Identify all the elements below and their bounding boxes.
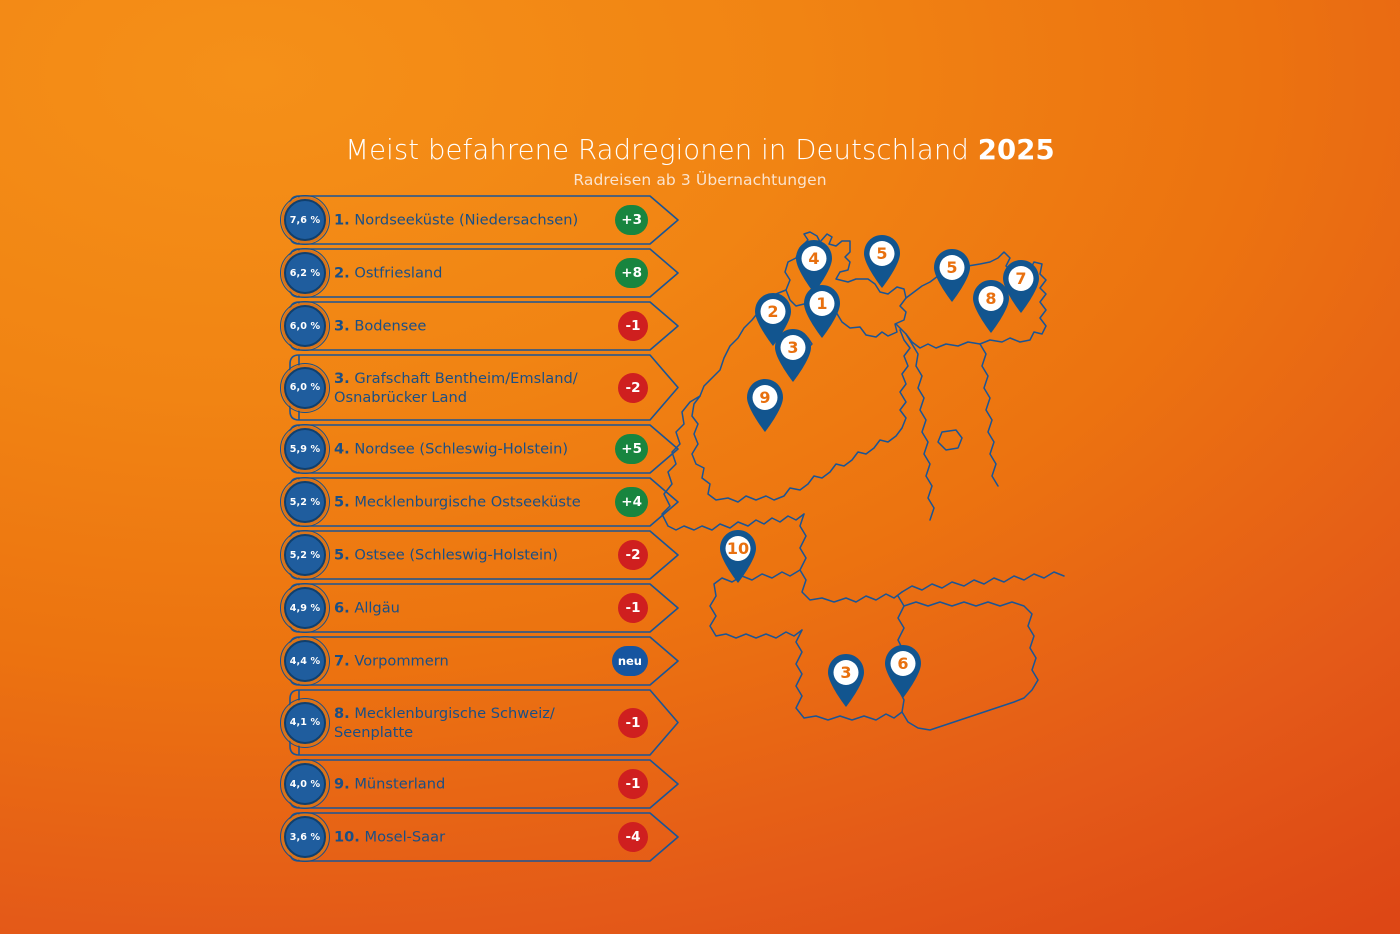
percent-badge: 6,0 % [284,367,326,409]
rank-change-badge: +3 [615,205,648,235]
rank-change-badge: -4 [618,822,648,852]
ranking-row[interactable]: 4,4 %7. Vorpommernneu [284,637,684,685]
map-pin-number: 8 [970,283,1012,314]
map-pin-number: 10 [717,533,759,564]
rank-change-badge: +8 [615,258,648,288]
map-pin[interactable]: 6 [882,643,924,699]
rank-change-badge: -1 [618,769,648,799]
region-label: 5. Ostsee (Schleswig-Holstein) [334,546,609,565]
region-label: 6. Allgäu [334,599,609,618]
map-pin[interactable]: 3 [772,327,814,383]
rank-change-badge: +5 [615,434,648,464]
ranking-row[interactable]: 5,2 %5. Ostsee (Schleswig-Holstein)-2 [284,531,684,579]
percent-badge: 3,6 % [284,816,326,858]
region-label: 5. Mecklenburgische Ostseeküste [334,493,609,512]
percent-badge: 6,0 % [284,305,326,347]
map-pin[interactable]: 5 [861,233,903,289]
region-name: Mecklenburgische Ostseeküste [354,494,580,511]
ranking-row[interactable]: 5,9 %4. Nordsee (Schleswig-Holstein)+5 [284,425,684,473]
region-label: 4. Nordsee (Schleswig-Holstein) [334,440,609,459]
region-rank: 5. [334,494,350,511]
percent-badge: 5,9 % [284,428,326,470]
ranking-row[interactable]: 5,2 %5. Mecklenburgische Ostseeküste+4 [284,478,684,526]
percent-badge: 4,1 % [284,702,326,744]
rank-change-badge: -1 [618,708,648,738]
rank-change-badge: -2 [618,540,648,570]
region-label: 2. Ostfriesland [334,264,609,283]
ranking-row[interactable]: 6,2 %2. Ostfriesland+8 [284,249,684,297]
region-name: Münsterland [354,776,445,793]
rank-change-badge: neu [612,646,648,676]
map-pin-number: 9 [744,382,786,413]
region-name: Ostsee (Schleswig-Holstein) [354,547,558,564]
region-rank: 6. [334,600,350,617]
region-rank: 9. [334,776,350,793]
map-pin-number: 4 [793,243,835,274]
region-name: Vorpommern [354,653,448,670]
region-name: Bodensee [354,318,426,335]
page-title: Meist befahrene Radregionen in Deutschla… [0,134,1400,166]
region-label: 3. Bodensee [334,317,609,336]
map-region-hesse [800,514,902,602]
percent-badge: 7,6 % [284,199,326,241]
ranking-row[interactable]: 6,0 %3. Grafschaft Bentheim/Emsland/Osna… [284,355,684,420]
region-rank: 1. [334,212,350,229]
page-subtitle: Radreisen ab 3 Übernachtungen [0,171,1400,189]
region-label: 1. Nordseeküste (Niedersachsen) [334,211,609,230]
ranking-row[interactable]: 4,9 %6. Allgäu-1 [284,584,684,632]
map-pin[interactable]: 9 [744,377,786,433]
map-divider-east-2 [980,344,998,486]
map-pin-number: 5 [931,252,973,283]
page-title-main: Meist befahrene Radregionen in Deutschla… [345,134,978,166]
percent-badge: 4,4 % [284,640,326,682]
region-rank: 2. [334,265,350,282]
region-rank: 8. [334,705,350,722]
region-name: Grafschaft Bentheim/Emsland/Osnabrücker … [334,370,578,406]
map-pin[interactable]: 10 [717,528,759,584]
rank-change-badge: -2 [618,373,648,403]
map-region-saxony [902,572,1064,592]
ranking-row[interactable]: 6,0 %3. Bodensee-1 [284,302,684,350]
header: Meist befahrene Radregionen in Deutschla… [0,134,1400,189]
region-label: 8. Mecklenburgische Schweiz/Seenplatte [334,704,609,742]
region-name: Mecklenburgische Schweiz/Seenplatte [334,705,555,741]
map-pin-number: 1 [801,288,843,319]
percent-badge: 4,0 % [284,763,326,805]
percent-badge: 5,2 % [284,481,326,523]
region-name: Mosel-Saar [365,829,446,846]
region-name: Nordseeküste (Niedersachsen) [354,212,578,229]
map-enclave-berlin [938,430,962,450]
map-pin-number: 3 [825,657,867,688]
percent-badge: 5,2 % [284,534,326,576]
map-pin[interactable]: 3 [825,652,867,708]
region-rank: 4. [334,441,350,458]
region-rank: 10. [334,829,360,846]
region-rank: 5. [334,547,350,564]
map-pin[interactable]: 8 [970,278,1012,334]
ranking-row[interactable]: 4,0 %9. Münsterland-1 [284,760,684,808]
ranking-row[interactable]: 7,6 %1. Nordseeküste (Niedersachsen)+3 [284,196,684,244]
region-label: 3. Grafschaft Bentheim/Emsland/Osnabrück… [334,369,609,407]
percent-badge: 4,9 % [284,587,326,629]
rank-change-badge: -1 [618,311,648,341]
rank-change-badge: +4 [615,487,648,517]
ranking-row[interactable]: 4,1 %8. Mecklenburgische Schweiz/Seenpla… [284,690,684,755]
region-name: Nordsee (Schleswig-Holstein) [354,441,568,458]
region-rank: 3. [334,370,350,387]
region-name: Ostfriesland [354,265,442,282]
region-label: 10. Mosel-Saar [334,828,609,847]
ranking-row[interactable]: 3,6 %10. Mosel-Saar-4 [284,813,684,861]
percent-badge: 6,2 % [284,252,326,294]
map-divider-east-1 [906,334,934,520]
ranking-list: 7,6 %1. Nordseeküste (Niedersachsen)+36,… [284,196,684,866]
region-label: 9. Münsterland [334,775,609,794]
map-pin-number: 6 [882,648,924,679]
page-title-year: 2025 [978,134,1055,166]
map-pin-number: 3 [772,332,814,363]
region-label: 7. Vorpommern [334,652,609,671]
region-name: Allgäu [354,600,400,617]
region-rank: 3. [334,318,350,335]
rank-change-badge: -1 [618,593,648,623]
map-pin-number: 5 [861,238,903,269]
region-rank: 7. [334,653,350,670]
map-pin-number: 2 [752,296,794,327]
map-pin[interactable]: 5 [931,247,973,303]
